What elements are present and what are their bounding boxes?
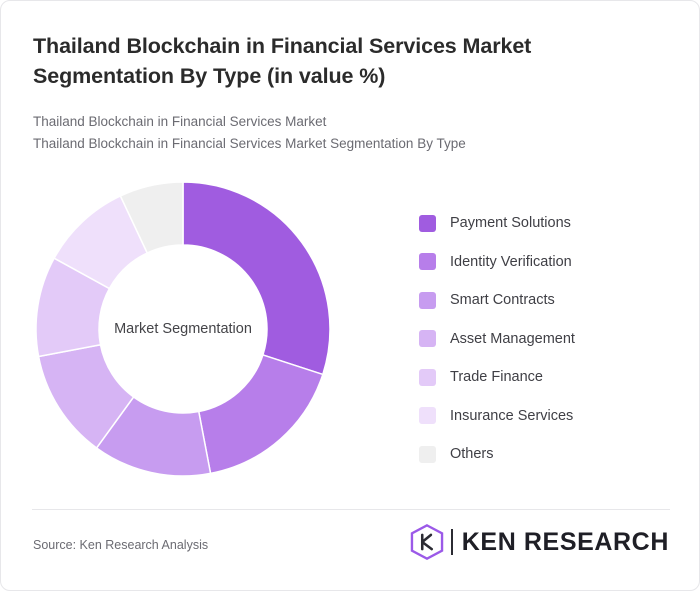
legend-swatch-icon: [419, 369, 436, 386]
legend-item[interactable]: Trade Finance: [419, 358, 669, 397]
chart-subtitle: Thailand Blockchain in Financial Service…: [33, 111, 653, 155]
chart-legend: Payment SolutionsIdentity VerificationSm…: [419, 204, 669, 474]
brand-name: KEN RESEARCH: [462, 530, 669, 555]
legend-swatch-icon: [419, 446, 436, 463]
legend-swatch-icon: [419, 292, 436, 309]
legend-label: Trade Finance: [450, 369, 543, 385]
brand-divider: [451, 529, 453, 555]
legend-label: Identity Verification: [450, 254, 572, 270]
page-title: Thailand Blockchain in Financial Service…: [33, 31, 633, 91]
chart-card: Thailand Blockchain in Financial Service…: [0, 0, 700, 591]
legend-item[interactable]: Payment Solutions: [419, 204, 669, 243]
subtitle-line-1: Thailand Blockchain in Financial Service…: [33, 111, 653, 133]
legend-swatch-icon: [419, 215, 436, 232]
legend-item[interactable]: Identity Verification: [419, 243, 669, 282]
legend-item[interactable]: Insurance Services: [419, 397, 669, 436]
legend-label: Asset Management: [450, 331, 575, 347]
subtitle-line-2: Thailand Blockchain in Financial Service…: [33, 133, 653, 155]
footer-divider: [32, 509, 670, 510]
source-note: Source: Ken Research Analysis: [33, 538, 208, 552]
legend-item[interactable]: Smart Contracts: [419, 281, 669, 320]
ken-logo-icon: [408, 523, 446, 561]
legend-label: Smart Contracts: [450, 292, 555, 308]
donut-slice[interactable]: [199, 355, 323, 473]
legend-item[interactable]: Others: [419, 435, 669, 474]
donut-svg: [32, 178, 334, 480]
legend-swatch-icon: [419, 330, 436, 347]
legend-swatch-icon: [419, 253, 436, 270]
legend-label: Payment Solutions: [450, 215, 571, 231]
brand-logo: KEN RESEARCH: [408, 522, 669, 562]
legend-label: Others: [450, 446, 494, 462]
legend-item[interactable]: Asset Management: [419, 320, 669, 359]
donut-chart: Market Segmentation: [32, 178, 334, 480]
donut-slice[interactable]: [183, 182, 330, 374]
chart-area: Market Segmentation Payment SolutionsIde…: [1, 166, 700, 496]
legend-label: Insurance Services: [450, 408, 573, 424]
legend-swatch-icon: [419, 407, 436, 424]
